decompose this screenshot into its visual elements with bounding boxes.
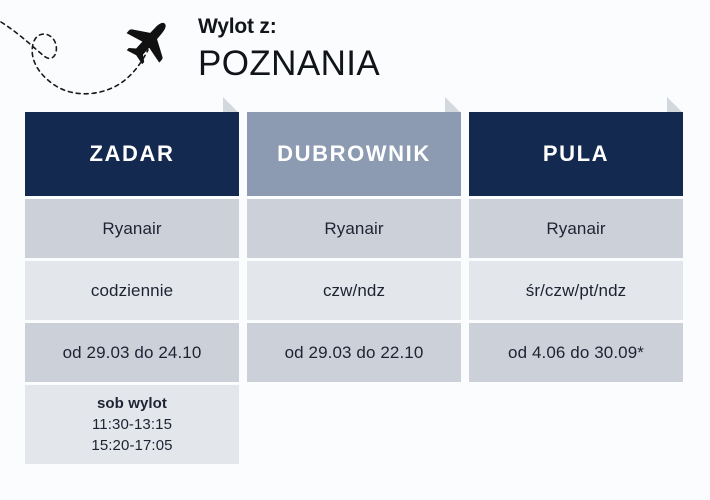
- column-header-wrap: DUBROWNIK: [247, 112, 461, 196]
- destination-name: DUBROWNIK: [277, 141, 431, 167]
- destination-column: ZADARRyanaircodziennieod 29.03 do 24.10s…: [25, 112, 239, 464]
- schedule-line: sob wylot: [97, 393, 167, 414]
- ribbon-fold-icon: [223, 97, 239, 113]
- destination-name: ZADAR: [90, 141, 175, 167]
- dashed-flight-path-icon: [0, 4, 190, 96]
- destination-header[interactable]: ZADAR: [25, 112, 239, 196]
- schedule-line: 11:30-13:15: [92, 414, 172, 435]
- column-header-wrap: PULA: [469, 112, 683, 196]
- table-cell: od 29.03 do 24.10: [25, 323, 239, 382]
- destination-column: PULARyanairśr/czw/pt/ndzod 4.06 do 30.09…: [469, 112, 683, 382]
- destination-name: PULA: [543, 141, 609, 167]
- table-cell: śr/czw/pt/ndz: [469, 261, 683, 320]
- schedule-line: 15:20-17:05: [91, 435, 172, 456]
- ribbon-fold-icon: [445, 97, 461, 113]
- page-title: Wylot z: POZNANIA: [198, 14, 618, 86]
- flight-board: ZADARRyanaircodziennieod 29.03 do 24.10s…: [25, 112, 685, 464]
- table-cell: od 29.03 do 22.10: [247, 323, 461, 382]
- table-cell: codziennie: [25, 261, 239, 320]
- table-cell: czw/ndz: [247, 261, 461, 320]
- title-kicker: Wylot z:: [198, 14, 618, 40]
- table-cell: Ryanair: [247, 199, 461, 258]
- ribbon-fold-icon: [667, 97, 683, 113]
- table-cell: Ryanair: [469, 199, 683, 258]
- table-cell: Ryanair: [25, 199, 239, 258]
- title-city: POZNANIA: [198, 42, 618, 86]
- page-header: Wylot z: POZNANIA: [0, 0, 710, 100]
- column-header-wrap: ZADAR: [25, 112, 239, 196]
- airplane-icon: [0, 4, 190, 96]
- destination-column: DUBROWNIKRyanairczw/ndzod 29.03 do 22.10: [247, 112, 461, 382]
- destination-header[interactable]: DUBROWNIK: [247, 112, 461, 196]
- destination-header[interactable]: PULA: [469, 112, 683, 196]
- table-cell-schedule: sob wylot11:30-13:1515:20-17:05: [25, 385, 239, 464]
- table-cell: od 4.06 do 30.09*: [469, 323, 683, 382]
